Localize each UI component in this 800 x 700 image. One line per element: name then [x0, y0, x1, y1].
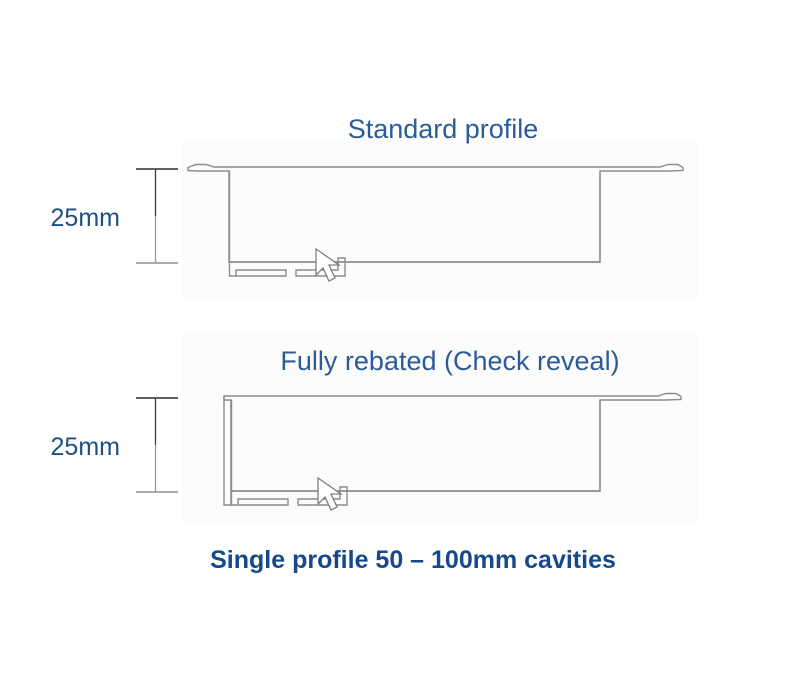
profile-diagram-svg: Standard profile 25mm Fully r	[0, 0, 800, 700]
diagram-canvas: Standard profile 25mm Fully r	[0, 0, 800, 700]
figure-caption: Single profile 50 – 100mm cavities	[210, 546, 616, 574]
heading-standard-profile: Standard profile	[348, 114, 539, 144]
dimension-label-standard: 25mm	[51, 204, 120, 232]
dimension-label-rebated: 25mm	[51, 433, 120, 461]
heading-fully-rebated: Fully rebated (Check reveal)	[280, 346, 619, 376]
